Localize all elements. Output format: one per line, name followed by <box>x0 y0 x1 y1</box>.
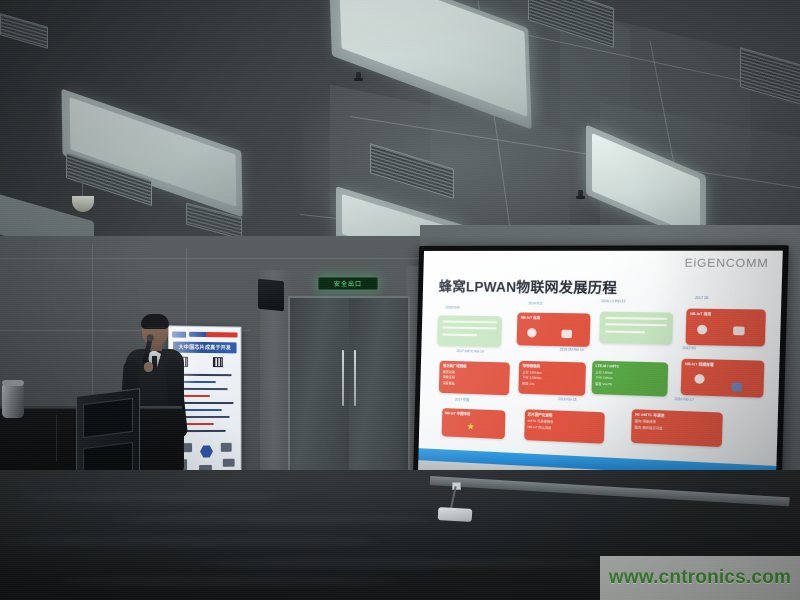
projection-screen: EiGENCOMM 蜂窝LPWAN物联网发展历程 2008 NoR 2014 R… <box>413 245 789 508</box>
slide-timeline: 2008 NoR 2014 R11 2016 LC Rel-13 2017 2B… <box>429 303 770 452</box>
timeline-cell: NB-IoT 标准 <box>517 312 590 346</box>
timeline-row: 2017 eMTC Rel-14 2018 3M Rel-14 2019 5G … <box>430 351 768 404</box>
photo-scene: 安全出口 EiGENCOMM 蜂窝LPWAN物联网发展历程 2008 NoR 2… <box>0 0 800 600</box>
glasses-icon <box>145 327 165 331</box>
banner-product-image <box>221 443 232 452</box>
timeline-cell-head: NB-IoT 标准 <box>521 316 587 321</box>
timeline-tick: 2017 2B <box>694 296 708 300</box>
carpet-pattern <box>20 492 280 502</box>
presentation-slide: EiGENCOMM 蜂窝LPWAN物联网发展历程 2008 NoR 2014 R… <box>418 251 782 479</box>
banner-hex-icon <box>200 445 213 458</box>
wall-seam <box>0 258 420 259</box>
door-leaf-left[interactable] <box>290 298 349 484</box>
presenter-hand <box>144 362 153 372</box>
star-icon: ★ <box>466 422 474 431</box>
timeline-tick: 2017 eMTC Rel-14 <box>457 349 484 354</box>
cell-dot-icon <box>694 374 704 384</box>
cell-dot-icon <box>527 328 537 337</box>
timeline-tick: 2008 NoR <box>445 305 460 309</box>
carpet-pattern <box>0 536 380 546</box>
wall-seam <box>92 244 93 414</box>
timeline-cell: NB-IoT 中国市场 ★ <box>441 408 505 439</box>
timeline-cell <box>600 312 673 345</box>
timeline-tick: 2017 中国 <box>455 397 470 402</box>
door-leaf-right[interactable] <box>349 298 408 484</box>
urn-lid <box>2 380 24 386</box>
water-urn <box>2 384 24 418</box>
timeline-cell-line: 时延 10s <box>522 381 582 387</box>
banner-product-image <box>223 459 235 467</box>
timeline-tick: 2020 Rel-17 <box>674 397 694 402</box>
timeline-cell <box>437 315 501 347</box>
timeline-cell-head: 窄带物联网 <box>523 364 583 370</box>
sprinkler-head <box>578 190 583 199</box>
timeline-row: 2017 中国 2018 Rel-15 2020 Rel-17 NB-IoT 中… <box>429 398 767 455</box>
timeline-cell-line: 深度覆盖 <box>442 381 506 387</box>
slide-title: 蜂窝LPWAN物联网发展历程 <box>439 275 771 299</box>
sprinkler-head <box>356 72 361 81</box>
floor-power-box <box>438 507 473 522</box>
banner-org-text <box>189 332 237 338</box>
timeline-tick: 2018 Rel-15 <box>558 398 577 403</box>
placeholder-bar <box>606 323 667 326</box>
placeholder-bar <box>443 326 496 329</box>
timeline-tick: 2016 LC Rel-13 <box>601 299 625 303</box>
cell-chip-icon <box>733 326 745 335</box>
timeline-cell: NB-IoT 商用 <box>686 309 766 347</box>
timeline-cell-head: NB-IoT 中国市场 <box>445 412 502 419</box>
double-door[interactable] <box>288 296 410 486</box>
timeline-cell: 低功耗广域网络 超低功耗 海量连接 深度覆盖 <box>439 361 510 396</box>
screen-surface: EiGENCOMM 蜂窝LPWAN物联网发展历程 2008 NoR 2014 R… <box>418 251 782 479</box>
exit-sign-label: 安全出口 <box>334 279 362 288</box>
qr-code-icon <box>213 357 223 367</box>
watermark-text: www.cntronics.com <box>609 567 791 589</box>
placeholder-bar <box>443 320 496 323</box>
timeline-cell-line: 语音 VoLTE <box>595 382 664 388</box>
door-handle[interactable] <box>342 350 344 406</box>
kiosk-display <box>83 398 133 438</box>
placeholder-bar <box>606 316 667 319</box>
timeline-cell-head: NB-IoT 商用 <box>690 312 762 318</box>
timeline-cell: LTE-M / eMTC 上行 1Mbps 下行 1Mbps 语音 VoLTE <box>591 361 667 397</box>
door-handle[interactable] <box>354 350 356 406</box>
ceiling <box>0 0 800 258</box>
timeline-tick: 2014 R11 <box>528 301 542 305</box>
cabinet-seam <box>56 415 57 461</box>
timeline-tick: 2018 3M Rel-14 <box>560 348 584 353</box>
watermark: www.cntronics.com <box>600 556 800 600</box>
exit-sign: 安全出口 <box>318 277 378 290</box>
timeline-tick: 2019 5G <box>682 346 696 350</box>
slide-logo: EiGENCOMM <box>684 257 768 270</box>
timeline-cell: 5G mMTC 与演进 面向 海量连接 面向 低时延高可靠 <box>631 410 723 448</box>
placeholder-bar <box>443 333 477 336</box>
timeline-cell: 窄带物联网 上行 250kbps 下行 230kbps 时延 10s <box>519 361 586 396</box>
placeholder-bar <box>605 330 644 333</box>
cell-dot-icon <box>697 325 707 335</box>
carpet-pattern <box>60 576 400 586</box>
carpet-pattern <box>200 558 600 568</box>
timeline-cell-head: NB-IoT 规模部署 <box>685 362 761 369</box>
timeline-row: 2008 NoR 2014 R11 2016 LC Rel-13 2017 2B… <box>431 303 769 352</box>
cell-chip-icon <box>562 330 573 339</box>
carpet-pattern <box>110 514 430 524</box>
cell-chip-icon <box>732 382 743 391</box>
timeline-cell: 芯片国产化进程 eMTC 与多模融合 NB-IoT 向上演进 <box>524 410 604 445</box>
wall-speaker <box>258 279 284 312</box>
timeline-cell: NB-IoT 规模部署 <box>681 359 764 398</box>
